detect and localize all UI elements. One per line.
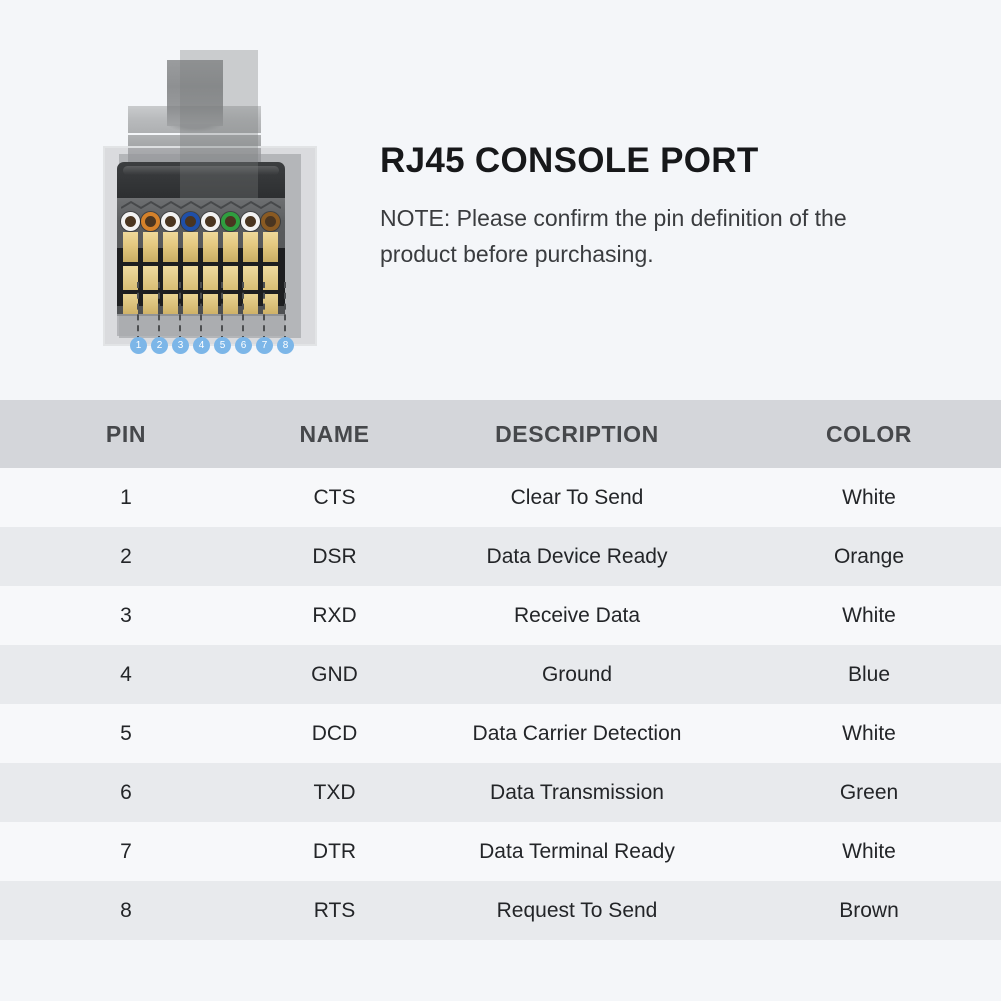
leader-line-2: [158, 282, 160, 342]
cell-name: DSR: [252, 527, 417, 586]
cell-pin: 8: [0, 881, 252, 940]
pin-badge-7: 7: [256, 337, 273, 354]
rj45-pinout-table: PIN NAME DESCRIPTION COLOR 1CTSClear To …: [0, 400, 1001, 940]
pin-badge-3: 3: [172, 337, 189, 354]
table-row: 2DSRData Device ReadyOrange: [0, 527, 1001, 586]
column-header-name: NAME: [252, 400, 417, 468]
connector-pin-5: [203, 232, 218, 314]
cell-description: Ground: [417, 645, 737, 704]
cell-description: Data Transmission: [417, 763, 737, 822]
cell-pin: 6: [0, 763, 252, 822]
table-row: 7DTRData Terminal ReadyWhite: [0, 822, 1001, 881]
pin-contact-segment: [123, 232, 138, 262]
cell-name: DCD: [252, 704, 417, 763]
pin-badge-6: 6: [235, 337, 252, 354]
cell-pin: 2: [0, 527, 252, 586]
table-header: PIN NAME DESCRIPTION COLOR: [0, 400, 1001, 468]
connector-pin-6: [223, 232, 238, 314]
pin-badge-8: 8: [277, 337, 294, 354]
cell-name: RTS: [252, 881, 417, 940]
wire-end-2: [141, 212, 160, 231]
cell-name: CTS: [252, 468, 417, 527]
cell-pin: 3: [0, 586, 252, 645]
connector-pin-8: [263, 232, 278, 314]
pin-badge-2: 2: [151, 337, 168, 354]
wire-end-3: [161, 212, 180, 231]
pin-contact-segment: [263, 266, 278, 290]
table-header-row: PIN NAME DESCRIPTION COLOR: [0, 400, 1001, 468]
wire-end-4: [181, 212, 200, 231]
wire-end-1: [121, 212, 140, 231]
cell-color: Brown: [737, 881, 1001, 940]
leader-line-3: [179, 282, 181, 342]
pin-contact-segment: [163, 232, 178, 262]
pin-contact-segment: [143, 232, 158, 262]
wire-end-8: [261, 212, 280, 231]
cell-name: DTR: [252, 822, 417, 881]
wire-end-5: [201, 212, 220, 231]
connector-pin-7: [243, 232, 258, 314]
cell-pin: 7: [0, 822, 252, 881]
leader-line-5: [221, 282, 223, 342]
cell-name: TXD: [252, 763, 417, 822]
pin-contact-segment: [183, 266, 198, 290]
pin-contact-segment: [263, 294, 278, 314]
table-body: 1CTSClear To SendWhite2DSRData Device Re…: [0, 468, 1001, 940]
cell-description: Data Device Ready: [417, 527, 737, 586]
pin-contact-segment: [203, 232, 218, 262]
pin-number-badges: 12345678: [130, 337, 300, 357]
cell-color: Orange: [737, 527, 1001, 586]
cell-pin: 4: [0, 645, 252, 704]
connector-zigzag-detail: [121, 200, 281, 210]
top-section: 12345678 RJ45 CONSOLE PORT NOTE: Please …: [0, 0, 1001, 400]
leader-line-1: [137, 282, 139, 342]
rj45-connector-diagram: 12345678: [95, 50, 320, 370]
pin-contact-segment: [223, 266, 238, 290]
cell-description: Receive Data: [417, 586, 737, 645]
pin-contact-segment: [123, 266, 138, 290]
cell-color: Green: [737, 763, 1001, 822]
cell-color: White: [737, 822, 1001, 881]
pin-contact-segment: [203, 294, 218, 314]
pin-contact-segment: [243, 294, 258, 314]
pin-contact-segment: [183, 294, 198, 314]
cell-color: White: [737, 586, 1001, 645]
table-row: 4GNDGroundBlue: [0, 645, 1001, 704]
table-row: 1CTSClear To SendWhite: [0, 468, 1001, 527]
leader-line-8: [284, 282, 286, 342]
cell-color: White: [737, 704, 1001, 763]
leader-line-6: [242, 282, 244, 342]
connector-cable-overlay: [180, 50, 258, 200]
pin-contact-segment: [203, 266, 218, 290]
cell-description: Data Carrier Detection: [417, 704, 737, 763]
connector-pin-1: [123, 232, 138, 314]
cell-pin: 1: [0, 468, 252, 527]
pin-contact-segment: [223, 232, 238, 262]
cell-color: Blue: [737, 645, 1001, 704]
column-header-description: DESCRIPTION: [417, 400, 737, 468]
pin-contact-segment: [243, 266, 258, 290]
pin-contact-segment: [163, 266, 178, 290]
pin-contact-segment: [223, 294, 238, 314]
table-row: 3RXDReceive DataWhite: [0, 586, 1001, 645]
connector-pin-3: [163, 232, 178, 314]
cell-pin: 5: [0, 704, 252, 763]
pin-badge-1: 1: [130, 337, 147, 354]
leader-line-4: [200, 282, 202, 342]
pin-contact-segment: [143, 266, 158, 290]
page-title: RJ45 CONSOLE PORT: [380, 139, 900, 183]
pin-contact-segment: [143, 294, 158, 314]
pin-badge-5: 5: [214, 337, 231, 354]
wire-end-7: [241, 212, 260, 231]
table-row: 6TXDData TransmissionGreen: [0, 763, 1001, 822]
cell-color: White: [737, 468, 1001, 527]
cell-description: Data Terminal Ready: [417, 822, 737, 881]
table-row: 5DCDData Carrier DetectionWhite: [0, 704, 1001, 763]
note-text: NOTE: Please confirm the pin definition …: [380, 200, 900, 272]
column-header-color: COLOR: [737, 400, 1001, 468]
leader-line-7: [263, 282, 265, 342]
pin-contact-segment: [183, 232, 198, 262]
wire-end-6: [221, 212, 240, 231]
connector-pin-4: [183, 232, 198, 314]
pin-badge-4: 4: [193, 337, 210, 354]
pin-contact-segment: [243, 232, 258, 262]
pin-contact-segment: [123, 294, 138, 314]
heading-block: RJ45 CONSOLE PORT NOTE: Please confirm t…: [380, 139, 900, 272]
connector-pin-2: [143, 232, 158, 314]
table-row: 8RTSRequest To SendBrown: [0, 881, 1001, 940]
cell-name: GND: [252, 645, 417, 704]
cell-name: RXD: [252, 586, 417, 645]
cell-description: Request To Send: [417, 881, 737, 940]
cell-description: Clear To Send: [417, 468, 737, 527]
pin-contact-segment: [163, 294, 178, 314]
column-header-pin: PIN: [0, 400, 252, 468]
pin-contact-segment: [263, 232, 278, 262]
